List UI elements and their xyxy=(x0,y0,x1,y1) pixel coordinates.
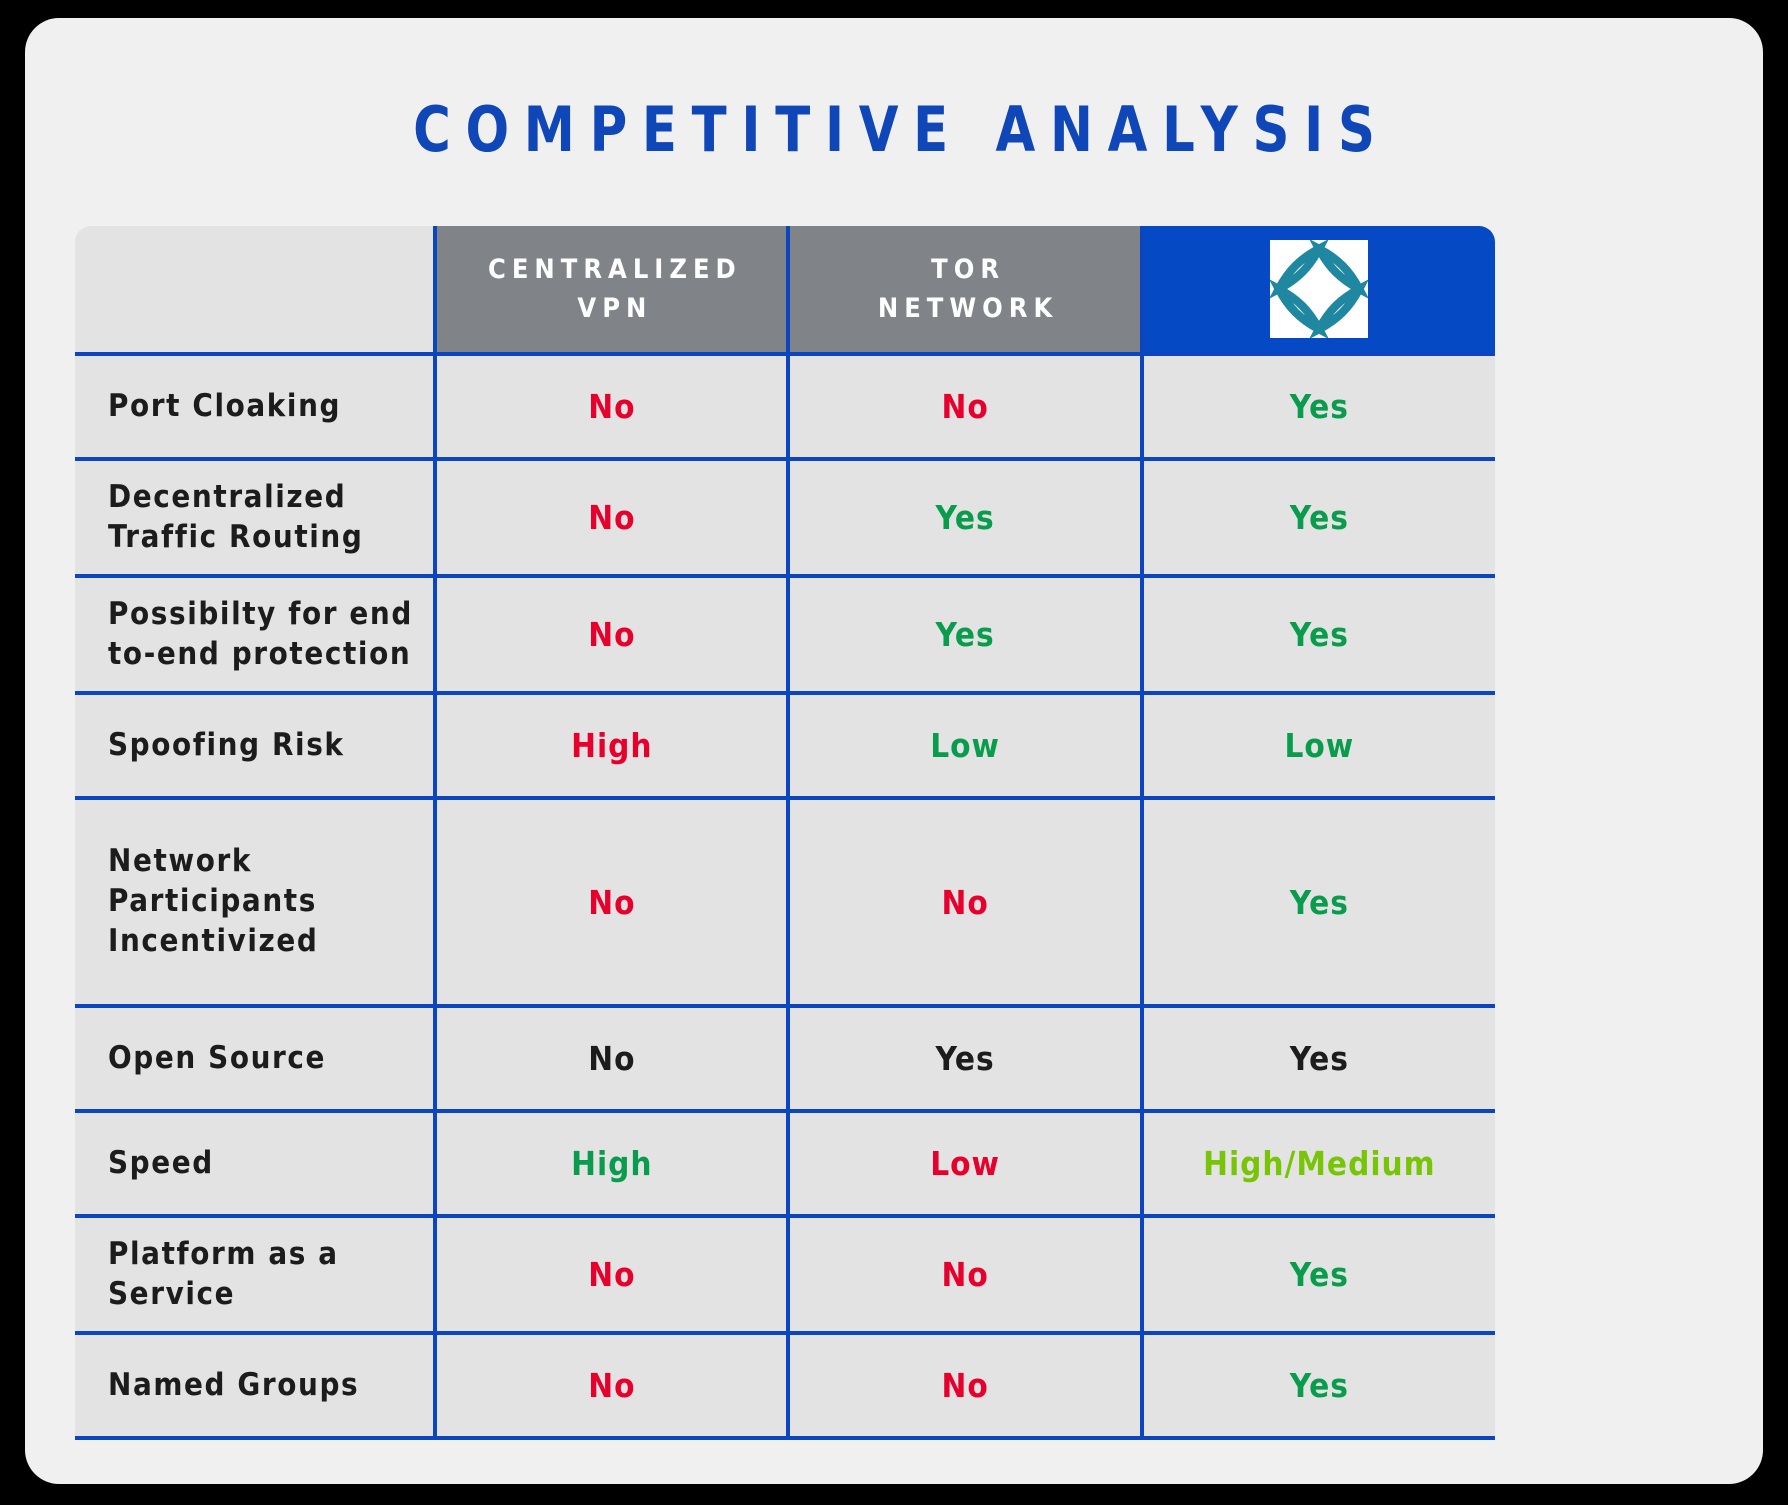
table-row: Spoofing RiskHighLowLow xyxy=(75,693,1495,798)
feature-value: No xyxy=(435,798,788,1006)
feature-label: Open Source xyxy=(75,1006,435,1111)
feature-value: Yes xyxy=(1142,798,1495,1006)
brand-logo-wrapper xyxy=(1144,240,1495,338)
column-header-line-1: TOR xyxy=(790,250,1139,289)
feature-value: Yes xyxy=(788,1006,1141,1111)
feature-label: Speed xyxy=(75,1111,435,1216)
feature-value: Yes xyxy=(1142,1006,1495,1111)
feature-value: No xyxy=(788,354,1141,459)
header-corner-blank xyxy=(75,226,435,354)
feature-value: Yes xyxy=(788,459,1141,576)
slide-canvas: COMPETITIVE ANALYSIS CENTRALIZED VPN TOR xyxy=(0,0,1788,1505)
feature-value: Yes xyxy=(1142,459,1495,576)
table-row: Open SourceNoYesYes xyxy=(75,1006,1495,1111)
feature-value: Low xyxy=(788,1111,1141,1216)
feature-value: No xyxy=(435,459,788,576)
feature-value: No xyxy=(788,1216,1141,1333)
column-header-brand xyxy=(1142,226,1495,354)
feature-value: No xyxy=(435,576,788,693)
table-row: Possibilty for end to-end protectionNoYe… xyxy=(75,576,1495,693)
feature-value: No xyxy=(788,798,1141,1006)
feature-value: Yes xyxy=(1142,354,1495,459)
feature-value: Low xyxy=(1142,693,1495,798)
table-header-row: CENTRALIZED VPN TOR NETWORK xyxy=(75,226,1495,354)
content-card: COMPETITIVE ANALYSIS CENTRALIZED VPN TOR xyxy=(25,18,1763,1484)
feature-value: High/Medium xyxy=(1142,1111,1495,1216)
table-body: Port CloakingNoNoYesDecentralized Traffi… xyxy=(75,354,1495,1438)
feature-value: Yes xyxy=(1142,1216,1495,1333)
column-header-line-2: VPN xyxy=(437,289,786,328)
table-row: Port CloakingNoNoYes xyxy=(75,354,1495,459)
column-header-tor-network: TOR NETWORK xyxy=(788,226,1141,354)
feature-label: Named Groups xyxy=(75,1333,435,1438)
feature-label: Possibilty for end to-end protection xyxy=(75,576,435,693)
feature-value: No xyxy=(435,1333,788,1438)
table-row: Network Participants IncentivizedNoNoYes xyxy=(75,798,1495,1006)
feature-value: Low xyxy=(788,693,1141,798)
feature-value: No xyxy=(435,354,788,459)
table-header: CENTRALIZED VPN TOR NETWORK xyxy=(75,226,1495,354)
feature-value: No xyxy=(435,1216,788,1333)
feature-label: Decentralized Traffic Routing xyxy=(75,459,435,576)
feature-value: Yes xyxy=(1142,576,1495,693)
competitive-analysis-table: CENTRALIZED VPN TOR NETWORK xyxy=(75,226,1495,1440)
table-row: Platform as a ServiceNoNoYes xyxy=(75,1216,1495,1333)
feature-value: Yes xyxy=(1142,1333,1495,1438)
feature-label: Port Cloaking xyxy=(75,354,435,459)
brand-logo-icon xyxy=(1270,240,1368,338)
feature-value: High xyxy=(435,1111,788,1216)
table-row: Decentralized Traffic RoutingNoYesYes xyxy=(75,459,1495,576)
feature-value: High xyxy=(435,693,788,798)
feature-label: Platform as a Service xyxy=(75,1216,435,1333)
feature-value: No xyxy=(435,1006,788,1111)
table-row: Named GroupsNoNoYes xyxy=(75,1333,1495,1438)
page-title: COMPETITIVE ANALYSIS xyxy=(95,93,1694,166)
table-row: SpeedHighLowHigh/Medium xyxy=(75,1111,1495,1216)
column-header-centralized-vpn: CENTRALIZED VPN xyxy=(435,226,788,354)
feature-label: Spoofing Risk xyxy=(75,693,435,798)
feature-value: Yes xyxy=(788,576,1141,693)
feature-label: Network Participants Incentivized xyxy=(75,798,435,1006)
feature-value: No xyxy=(788,1333,1141,1438)
column-header-line-2: NETWORK xyxy=(790,289,1139,328)
column-header-line-1: CENTRALIZED xyxy=(437,250,786,289)
